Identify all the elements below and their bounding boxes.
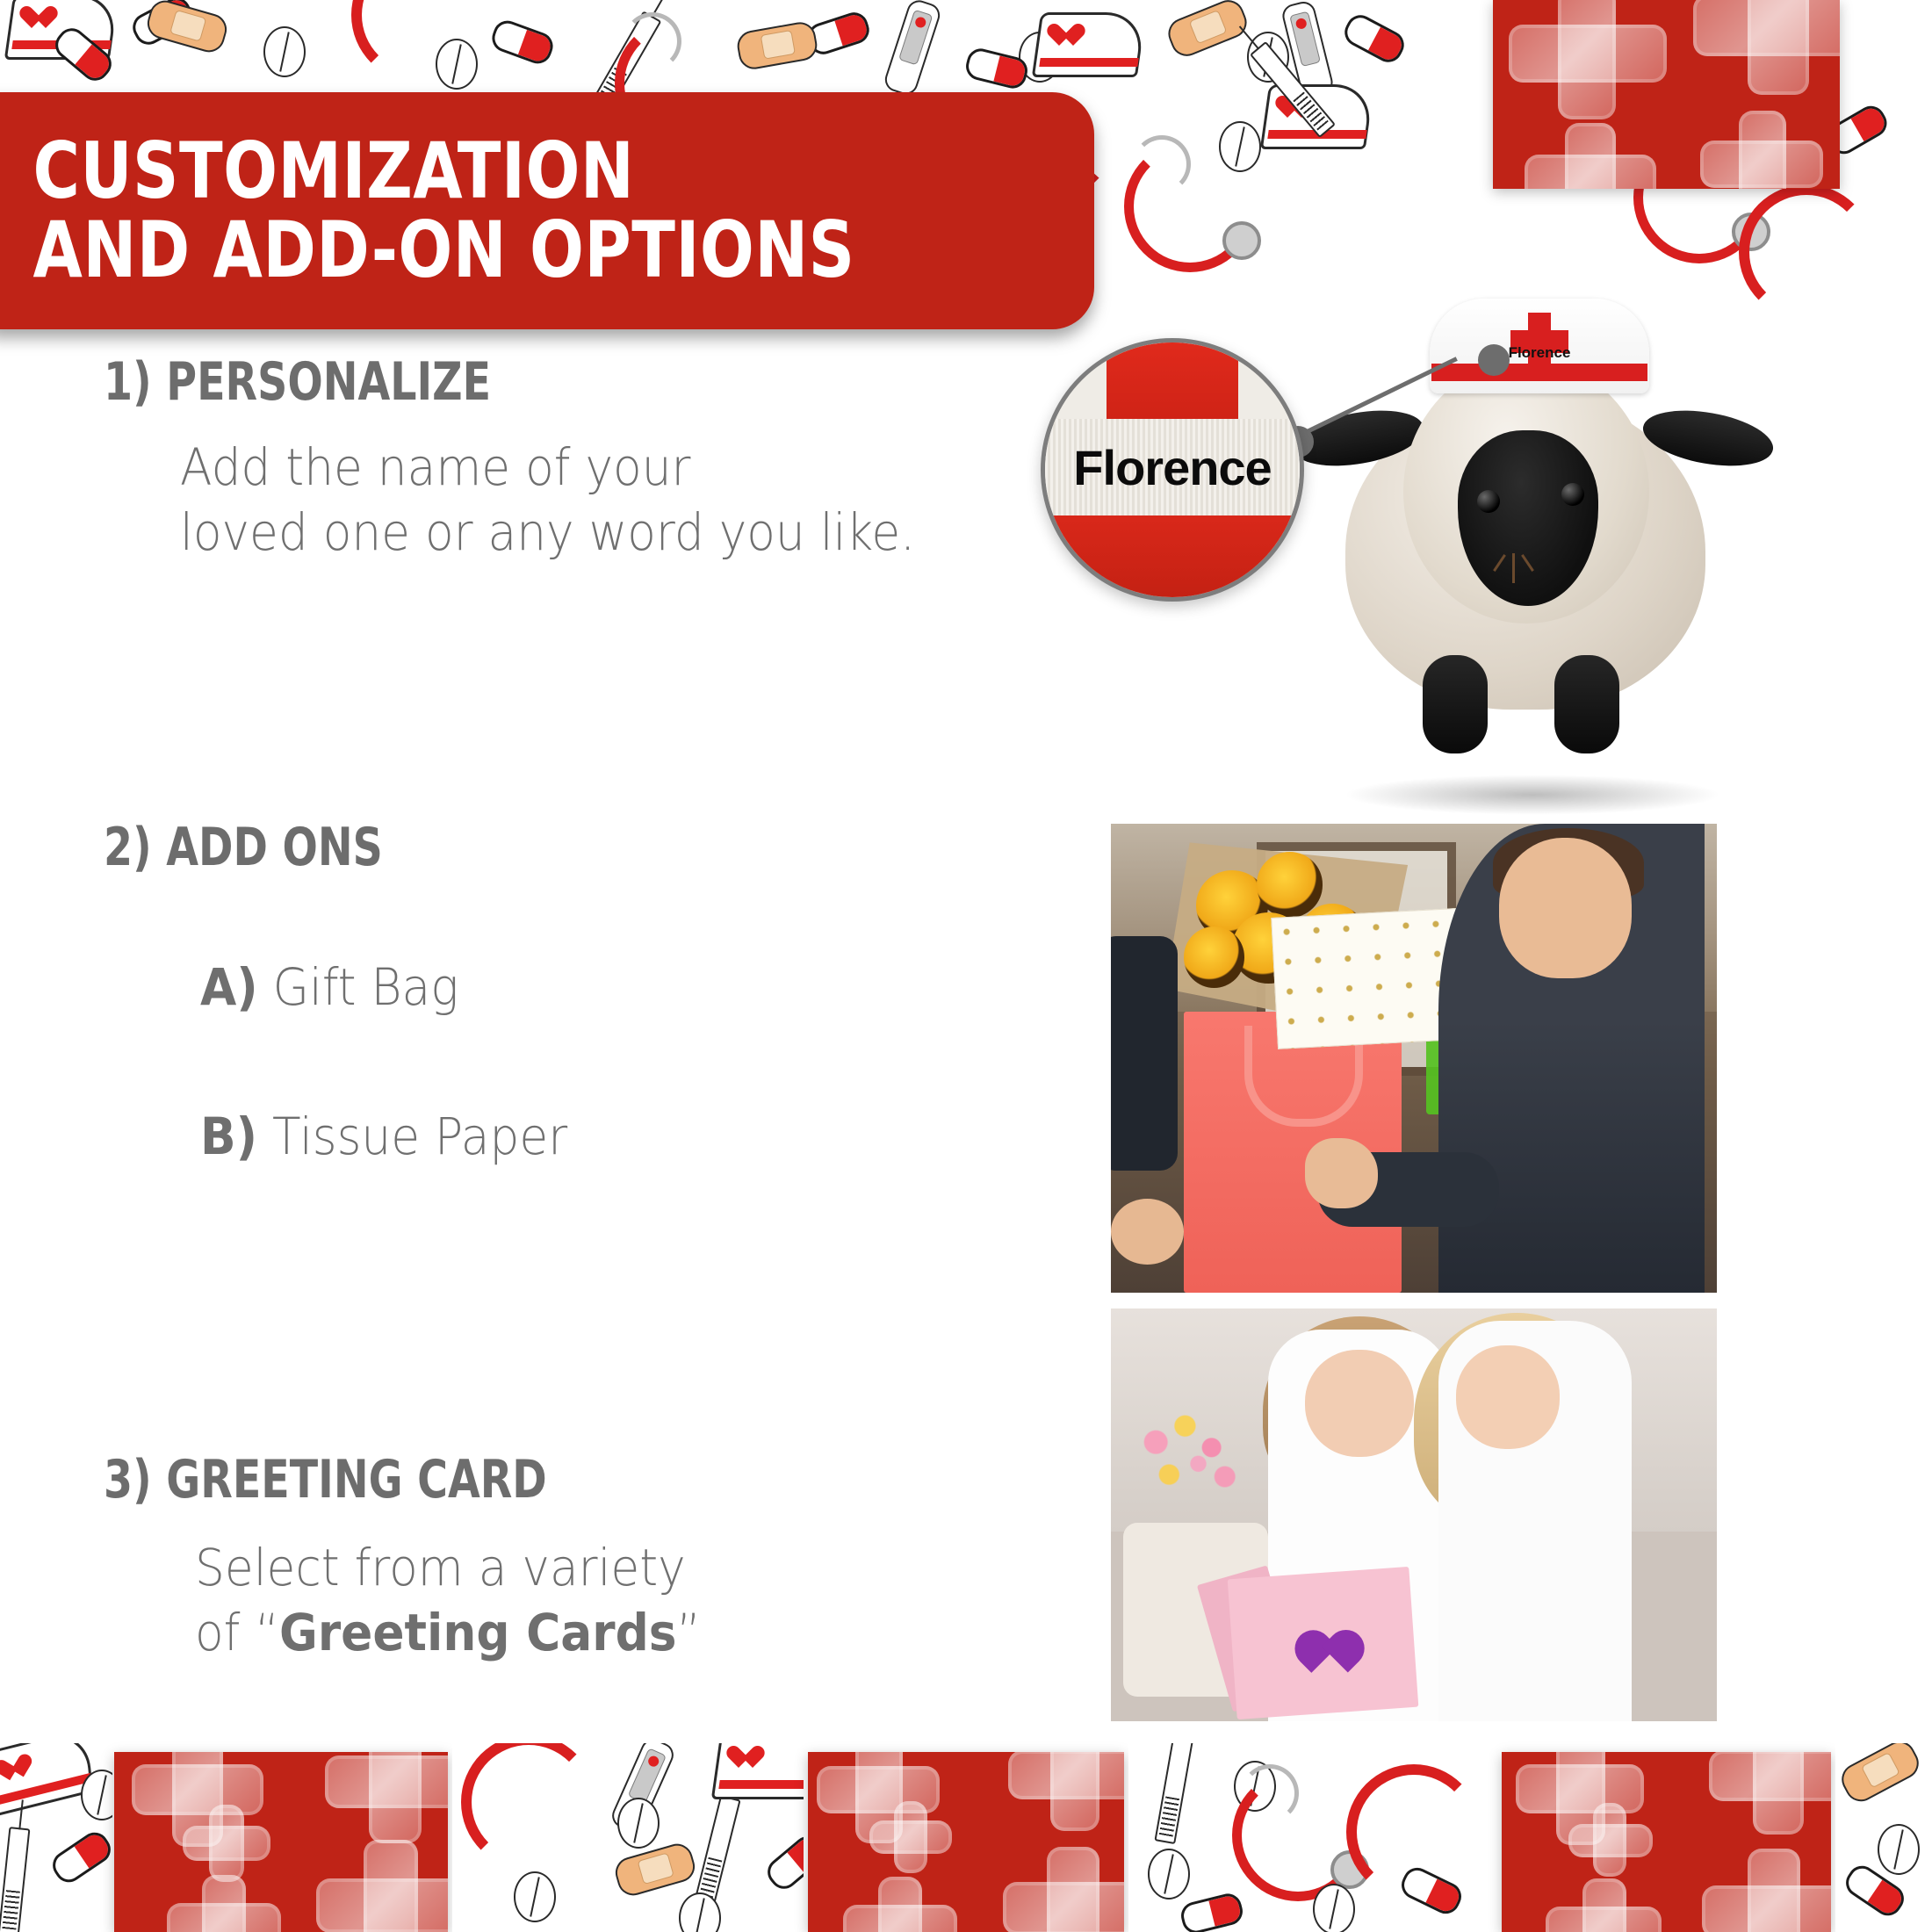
sheep-eye-right xyxy=(1561,483,1584,506)
section-3-heading: 3) GREETING CARD xyxy=(104,1453,547,1506)
photo-gift-bag xyxy=(1111,824,1717,1293)
section-2-heading: 2) ADD ONS xyxy=(104,821,383,874)
sheep-eye-left xyxy=(1477,490,1500,513)
photo-greeting-card xyxy=(1111,1308,1717,1721)
callout-target-dot xyxy=(1478,344,1510,376)
section-3-body-line2: of “Greeting Cards” xyxy=(195,1600,701,1665)
add-on-b-marker: B) xyxy=(200,1107,257,1166)
nurse-hat: Florence xyxy=(1430,299,1649,393)
section-3-body: Select from a variety of “Greeting Cards… xyxy=(195,1535,745,1665)
add-on-option-a[interactable]: A) Gift Bag xyxy=(200,962,481,1013)
filmstrip-tile-red-2 xyxy=(808,1752,1124,1932)
quote-open: of “ xyxy=(195,1603,279,1662)
sheep-leg-left xyxy=(1423,655,1488,753)
sheep-leg-right xyxy=(1554,655,1619,753)
section-add-ons: 2) ADD ONS xyxy=(104,821,421,874)
filmstrip-tile-pattern-3 xyxy=(1128,1743,1497,1932)
magnifier-name-label: Florence xyxy=(1045,439,1300,496)
greeting-cards-strong: Greeting Cards xyxy=(279,1603,676,1662)
add-on-a-label: Gift Bag xyxy=(273,957,459,1017)
quote-close: ” xyxy=(677,1603,702,1662)
sheep-shadow xyxy=(1344,775,1721,815)
sheep-muzzle xyxy=(1512,553,1515,583)
page-title: CUSTOMIZATION AND ADD-ON OPTIONS xyxy=(0,132,855,290)
section-1-body-line2: loved one or any word you like. xyxy=(180,500,915,565)
section-1-body-line1: Add the name of your xyxy=(180,435,915,500)
filmstrip-tile-pattern-1 xyxy=(0,1743,112,1932)
add-on-option-b[interactable]: B) Tissue Paper xyxy=(200,1111,600,1162)
section-personalize: 1) PERSONALIZE xyxy=(104,356,544,408)
hat-embroidered-name: Florence xyxy=(1430,344,1649,362)
red-cross-tile-top-right xyxy=(1493,0,1840,189)
section-1-body: Add the name of your loved one or any wo… xyxy=(180,435,979,565)
personalization-zoom-callout: Florence xyxy=(1041,338,1304,602)
infographic-canvas: CUSTOMIZATION AND ADD-ON OPTIONS 1) PERS… xyxy=(0,0,1932,1932)
section-greeting-card: 3) GREETING CARD xyxy=(104,1453,608,1506)
filmstrip-tile-red-1 xyxy=(114,1752,448,1932)
product-photo-sheep: Florence xyxy=(1291,263,1783,834)
filmstrip-tile-red-3 xyxy=(1502,1752,1831,1932)
add-on-a-marker: A) xyxy=(200,957,258,1017)
title-banner: CUSTOMIZATION AND ADD-ON OPTIONS xyxy=(0,92,1094,329)
section-3-body-line1: Select from a variety xyxy=(195,1535,701,1600)
filmstrip-tile-pattern-2 xyxy=(452,1743,804,1932)
section-1-heading: 1) PERSONALIZE xyxy=(104,356,491,408)
filmstrip-tile-pattern-4 xyxy=(1835,1743,1932,1932)
add-on-b-label: Tissue Paper xyxy=(272,1107,567,1166)
